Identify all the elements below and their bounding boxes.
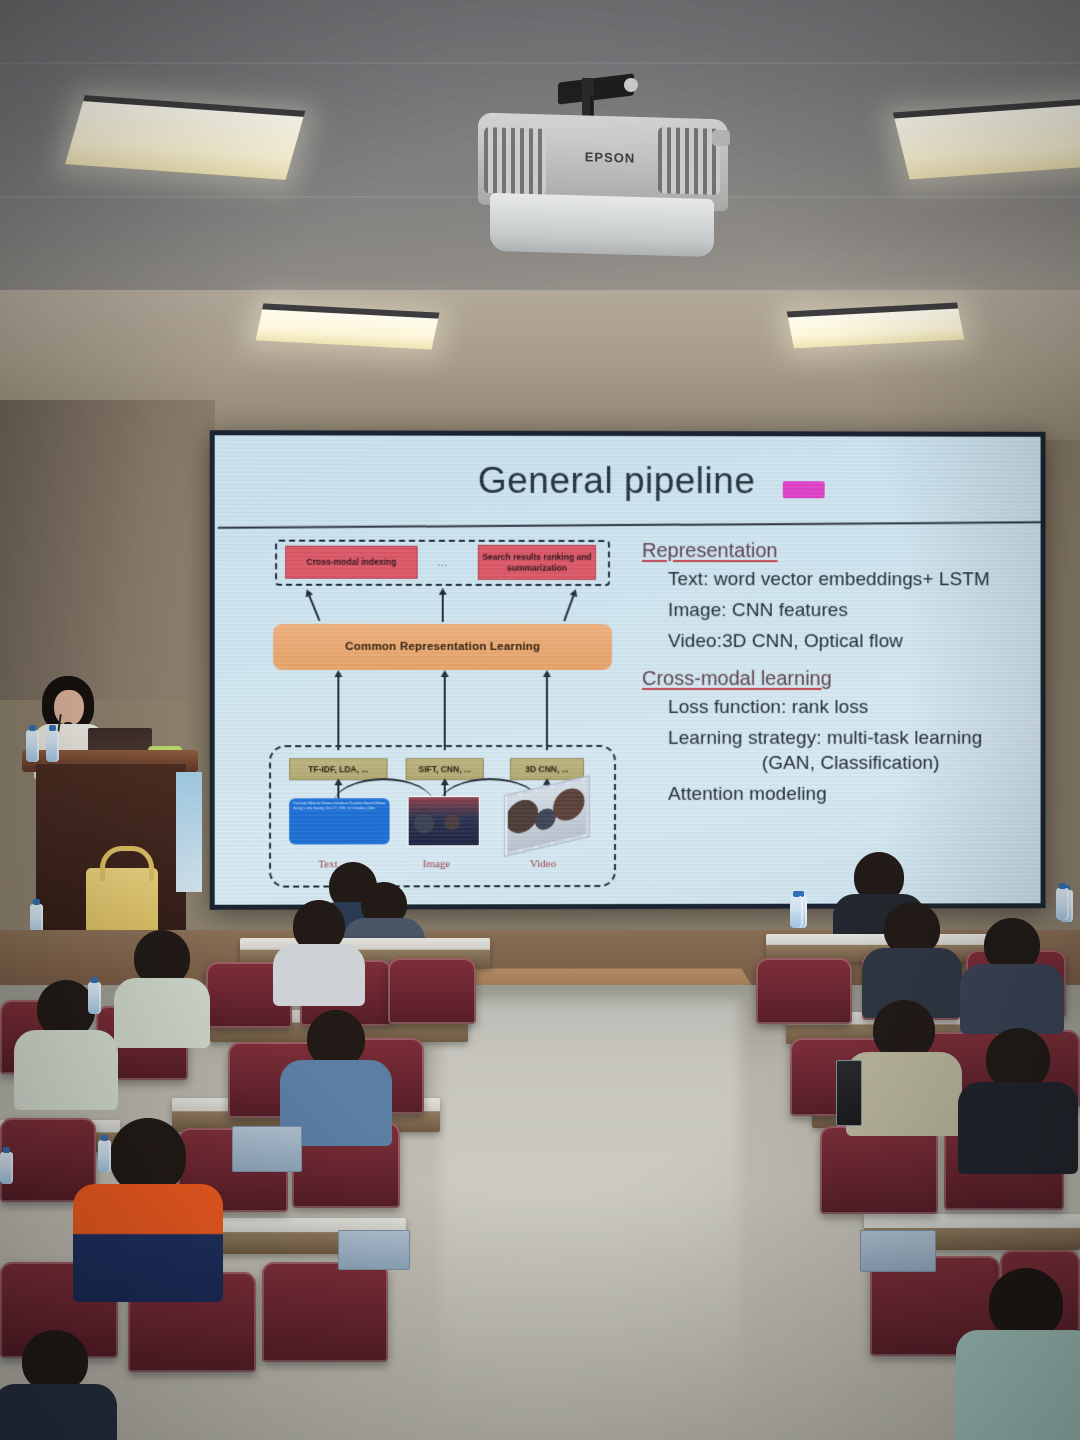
- arrow-feature-text: [337, 676, 339, 750]
- water-bottle: [88, 982, 101, 1014]
- auditorium-seat: [388, 958, 476, 1024]
- bullet-loss-function: Loss function: rank loss: [668, 697, 1041, 719]
- audience-member: [966, 1268, 1080, 1440]
- audience-member: [868, 902, 956, 1012]
- audience-member: [966, 1028, 1070, 1168]
- feature-box-image: SIFT, CNN, ...: [406, 758, 484, 780]
- bullet-learning-strategy-detail: (GAN, Classification): [762, 753, 1041, 775]
- water-bottle: [790, 896, 803, 928]
- arrow-feature-video: [546, 676, 548, 750]
- wall-left-shadow: [0, 400, 215, 700]
- laptop: [232, 1126, 302, 1172]
- water-bottle: [1056, 888, 1069, 920]
- projector-lens-housing: [490, 193, 714, 257]
- ceiling-light-panel: [894, 102, 1080, 179]
- ellipsis-label: ...: [438, 558, 449, 568]
- laptop: [338, 1230, 410, 1270]
- aisle-reflection: [440, 1000, 740, 1440]
- auditorium-seat: [262, 1262, 388, 1362]
- arrow-up-left: [308, 594, 320, 621]
- podium-side-panel: [176, 772, 202, 892]
- title-accent-mark: [783, 481, 825, 498]
- water-bottle: [26, 730, 39, 762]
- common-representation-learning-box: Common Representation Learning: [273, 624, 612, 670]
- projector-mount-tip: [624, 78, 638, 92]
- task-box-cross-modal-indexing: Cross-modal indexing: [285, 546, 418, 579]
- auditorium-seat: [820, 1126, 938, 1214]
- image-modality-thumbnail: [408, 796, 480, 846]
- water-bottle: [98, 1140, 111, 1172]
- arrow-up-center: [442, 594, 444, 622]
- audience-member: [966, 918, 1058, 1028]
- modality-label-image: Image: [423, 858, 451, 870]
- laptop: [836, 1060, 862, 1126]
- bullet-text-representation: Text: word vector embeddings+ LSTM: [668, 569, 1041, 591]
- modality-label-video: Video: [530, 858, 556, 870]
- audience-member: [0, 1330, 110, 1440]
- projector-vent-right: [658, 127, 720, 195]
- projector-vent-left: [484, 127, 546, 195]
- audience-member: [278, 900, 360, 1000]
- projector-brand-label: EPSON: [570, 149, 650, 166]
- water-bottle: [46, 730, 59, 762]
- title-divider: [218, 521, 1041, 529]
- text-modality-thumbnail: First lady Michelle Obama introduces Pre…: [289, 798, 389, 844]
- arrow-up-right: [563, 594, 574, 621]
- bullet-attention-modeling: Attention modeling: [668, 784, 1041, 806]
- audience-member: [852, 1000, 956, 1130]
- podium-area: [8, 672, 208, 942]
- task-box-search-ranking: Search results ranking and summarization: [478, 545, 596, 580]
- heading-cross-modal-learning: Cross-modal learning: [642, 668, 1041, 691]
- bullet-image-representation: Image: CNN features: [668, 600, 1041, 622]
- bullet-video-representation: Video:3D CNN, Optical flow: [668, 631, 1041, 653]
- feature-box-text: TF-IDF, LDA, ...: [289, 758, 387, 780]
- slide-text-column: Representation Text: word vector embeddi…: [642, 540, 1041, 815]
- audience-member: [120, 930, 204, 1040]
- pipeline-diagram: Cross-modal indexing ... Search results …: [267, 540, 618, 896]
- auditorium-seat: [756, 958, 852, 1024]
- laptop: [860, 1230, 936, 1272]
- slide-title: General pipeline: [478, 460, 755, 502]
- arrow-feature-image: [444, 676, 446, 750]
- projector-knob: [712, 130, 730, 146]
- bullet-learning-strategy: Learning strategy: multi-task learning: [668, 728, 1041, 750]
- slide-surface: General pipeline Cross-modal indexing ..…: [215, 435, 1041, 905]
- water-bottle: [0, 1152, 13, 1184]
- heading-representation: Representation: [642, 540, 1041, 563]
- projection-screen: General pipeline Cross-modal indexing ..…: [210, 430, 1046, 910]
- lecture-hall-photo: EPSON General pipeline Cross-modal index…: [0, 0, 1080, 1440]
- ceiling-projector: EPSON: [472, 78, 734, 270]
- feature-box-video: 3D CNN, ...: [510, 758, 584, 780]
- audience-member: [288, 1010, 384, 1140]
